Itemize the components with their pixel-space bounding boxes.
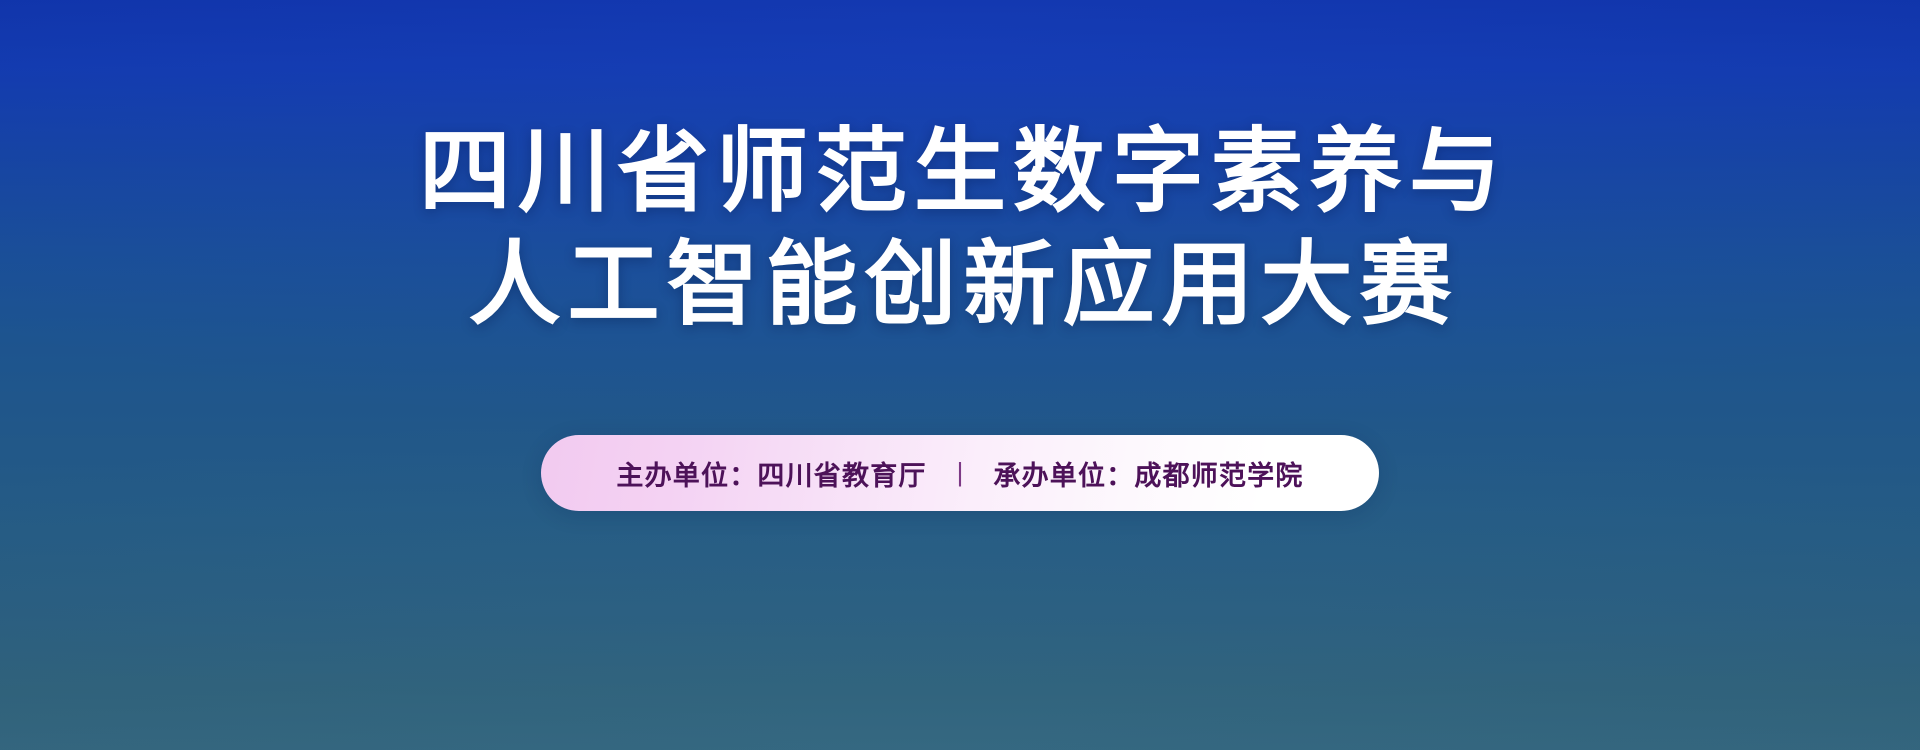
title-line-1: 四川省师范生数字素养与 bbox=[412, 118, 1508, 227]
pill-divider: | bbox=[957, 459, 964, 485]
organizer-pill: 主办单位：四川省教育厅 | 承办单位：成都师范学院 bbox=[541, 435, 1379, 511]
title-line-2: 人工智能创新应用大赛 bbox=[412, 231, 1508, 340]
banner-content: 四川省师范生数字素养与 人工智能创新应用大赛 主办单位：四川省教育厅 | 承办单… bbox=[0, 0, 1920, 750]
competition-banner: 四川省师范生数字素养与 人工智能创新应用大赛 主办单位：四川省教育厅 | 承办单… bbox=[0, 0, 1920, 750]
banner-title: 四川省师范生数字素养与 人工智能创新应用大赛 bbox=[412, 118, 1508, 339]
organizer-unit-label: 承办单位：成都师范学院 bbox=[993, 454, 1303, 493]
organizer-pill-wrapper: 主办单位：四川省教育厅 | 承办单位：成都师范学院 bbox=[0, 435, 1920, 511]
host-unit-label: 主办单位：四川省教育厅 bbox=[616, 454, 926, 493]
